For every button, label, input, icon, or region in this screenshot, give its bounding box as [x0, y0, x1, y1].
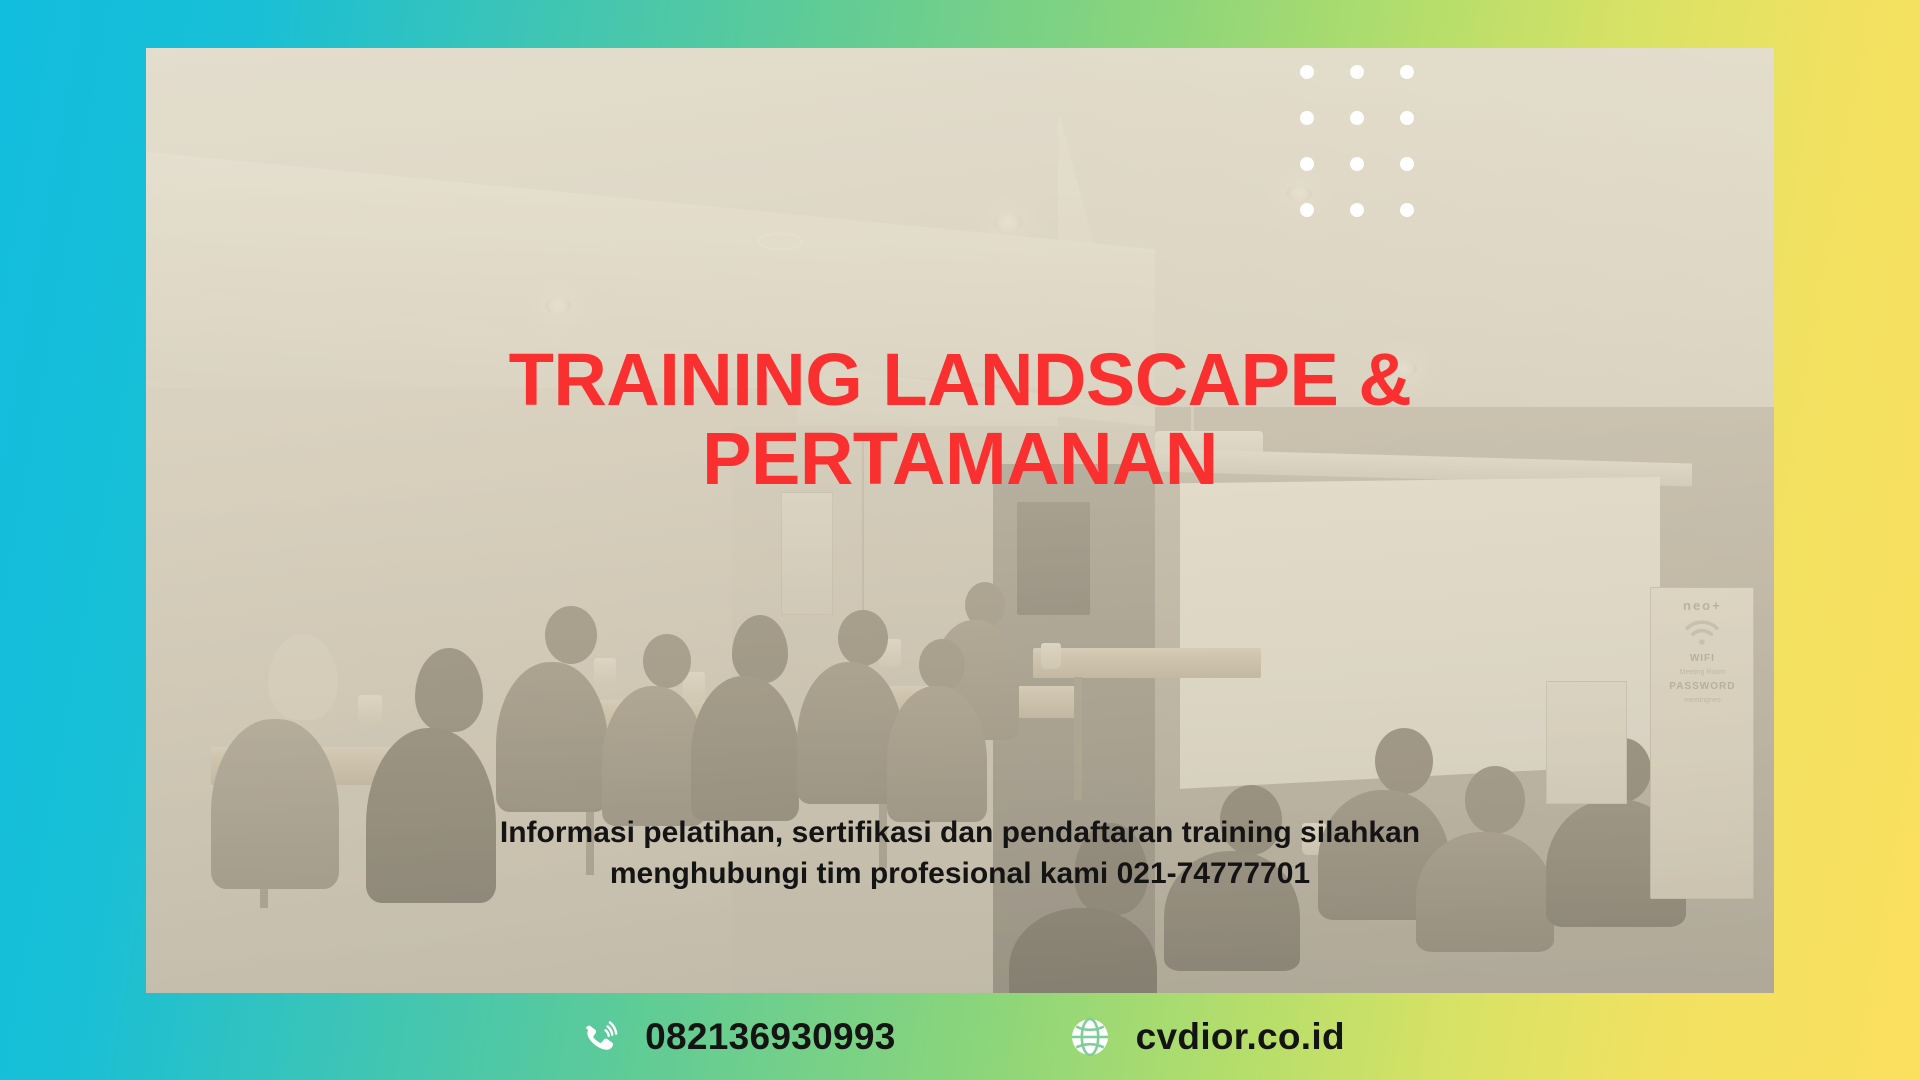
- grid-dot: [1350, 65, 1364, 79]
- grid-dot: [1350, 203, 1364, 217]
- headline-line-1: TRAINING LANDSCAPE &: [509, 338, 1412, 421]
- phone-contact[interactable]: 082136930993: [575, 1013, 896, 1061]
- grid-dot: [1300, 65, 1314, 79]
- grid-dot: [1300, 203, 1314, 217]
- subtitle-line-1: Informasi pelatihan, sertifikasi dan pen…: [500, 816, 1420, 849]
- subtitle-line-2: menghubungi tim profesional kami 021-747…: [380, 854, 1540, 895]
- grid-dot: [1350, 157, 1364, 171]
- grid-dot: [1400, 111, 1414, 125]
- subtitle-text: Informasi pelatihan, sertifikasi dan pen…: [380, 813, 1540, 894]
- grid-dot: [1400, 157, 1414, 171]
- grid-dot: [1400, 203, 1414, 217]
- website-contact[interactable]: cvdior.co.id: [1066, 1013, 1345, 1061]
- grid-dot: [1400, 65, 1414, 79]
- globe-icon: [1066, 1013, 1114, 1061]
- phone-number: 082136930993: [645, 1016, 896, 1058]
- grid-dot: [1350, 111, 1364, 125]
- dot-grid-decoration: [1300, 65, 1414, 217]
- grid-dot: [1300, 157, 1314, 171]
- phone-ringing-icon: [575, 1013, 623, 1061]
- website-url: cvdior.co.id: [1136, 1016, 1345, 1058]
- headline-line-2: PERTAMANAN: [146, 419, 1774, 498]
- contact-footer: 082136930993 cvdior.co.id: [0, 993, 1920, 1080]
- grid-dot: [1300, 111, 1314, 125]
- page-title: TRAINING LANDSCAPE & PERTAMANAN: [146, 340, 1774, 498]
